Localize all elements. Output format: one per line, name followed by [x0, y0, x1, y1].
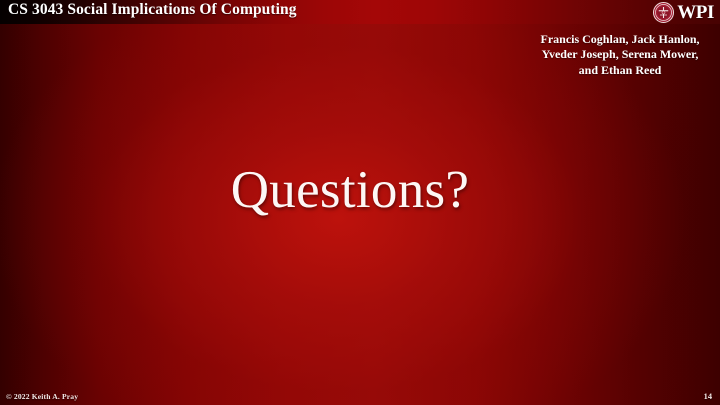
copyright-notice: © 2022 Keith A. Pray — [6, 392, 78, 401]
slide-number: 14 — [704, 392, 712, 401]
slide-headline: Questions? — [0, 160, 700, 220]
wpi-logo: WPI — [653, 1, 714, 24]
presentation-slide: CS 3043 Social Implications Of Computing… — [0, 0, 720, 405]
author-list: Francis Coghlan, Jack Hanlon, Yveder Jos… — [534, 32, 706, 78]
wpi-seal-icon — [653, 2, 674, 23]
wpi-wordmark: WPI — [677, 3, 714, 22]
course-title: CS 3043 Social Implications Of Computing — [8, 1, 297, 19]
slide-header-bar: CS 3043 Social Implications Of Computing… — [0, 0, 720, 24]
